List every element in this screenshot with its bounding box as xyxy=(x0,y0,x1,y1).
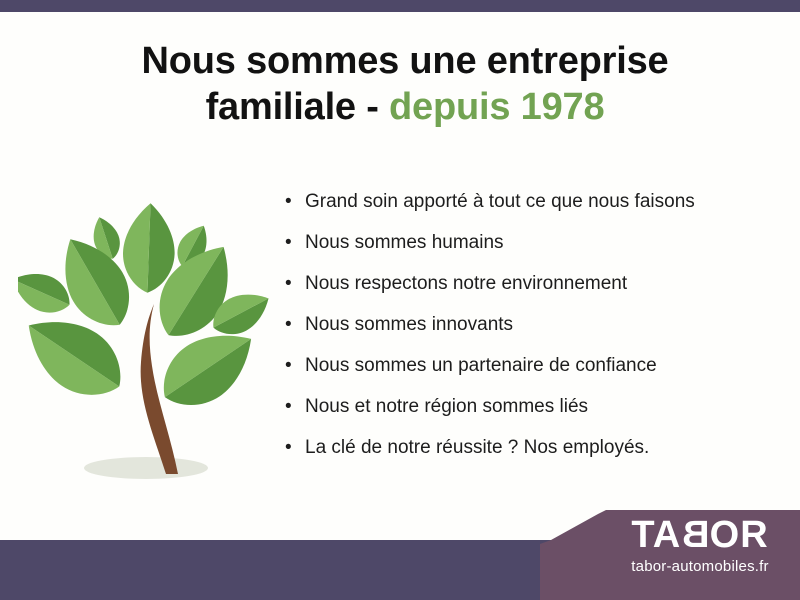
headline-line-2-main: familiale - xyxy=(206,86,379,128)
brand-logo[interactable]: TABOR tabor-automobiles.fr xyxy=(600,516,800,575)
headline-line-1: Nous sommes une entreprise xyxy=(142,40,669,82)
bullet-label: Nous respectons notre environnement xyxy=(305,274,627,293)
list-item: • Nous respectons notre environnement xyxy=(285,274,785,315)
bullet-label: Grand soin apporté à tout ce que nous fa… xyxy=(305,192,695,211)
bullet-label: La clé de notre réussite ? Nos employés. xyxy=(305,438,649,457)
bullet-marker: • xyxy=(285,192,305,211)
bullet-marker: • xyxy=(285,315,305,334)
brand-part-2: OR xyxy=(710,516,769,554)
bullet-label: Nous sommes innovants xyxy=(305,315,513,334)
brand-website-url[interactable]: tabor-automobiles.fr xyxy=(600,558,800,575)
bullet-label: Nous et notre région sommes liés xyxy=(305,397,588,416)
top-accent-bar xyxy=(0,0,800,12)
tree-shadow xyxy=(84,457,208,479)
slide-canvas: Nous sommes une entreprise familiale - d… xyxy=(0,0,800,600)
list-item: • La clé de notre réussite ? Nos employé… xyxy=(285,438,785,479)
bullet-marker: • xyxy=(285,233,305,252)
list-item: • Grand soin apporté à tout ce que nous … xyxy=(285,192,785,233)
bullet-marker: • xyxy=(285,438,305,457)
headline-line-2-accent: depuis 1978 xyxy=(389,86,604,128)
brand-wordmark: TABOR xyxy=(600,516,800,554)
bullet-label: Nous sommes un partenaire de confiance xyxy=(305,356,657,375)
list-item: • Nous sommes humains xyxy=(285,233,785,274)
bullet-label: Nous sommes humains xyxy=(305,233,504,252)
value-bullet-list: • Grand soin apporté à tout ce que nous … xyxy=(285,192,785,479)
brand-part-1: TA xyxy=(631,516,681,554)
tree-illustration xyxy=(18,186,274,486)
page-title: Nous sommes une entreprise familiale - d… xyxy=(60,38,750,131)
brand-mirrored-b: B xyxy=(681,516,709,554)
bullet-marker: • xyxy=(285,356,305,375)
list-item: • Nous sommes un partenaire de confiance xyxy=(285,356,785,397)
list-item: • Nous sommes innovants xyxy=(285,315,785,356)
list-item: • Nous et notre région sommes liés xyxy=(285,397,785,438)
bullet-marker: • xyxy=(285,397,305,416)
tree-svg xyxy=(18,186,274,486)
bullet-marker: • xyxy=(285,274,305,293)
